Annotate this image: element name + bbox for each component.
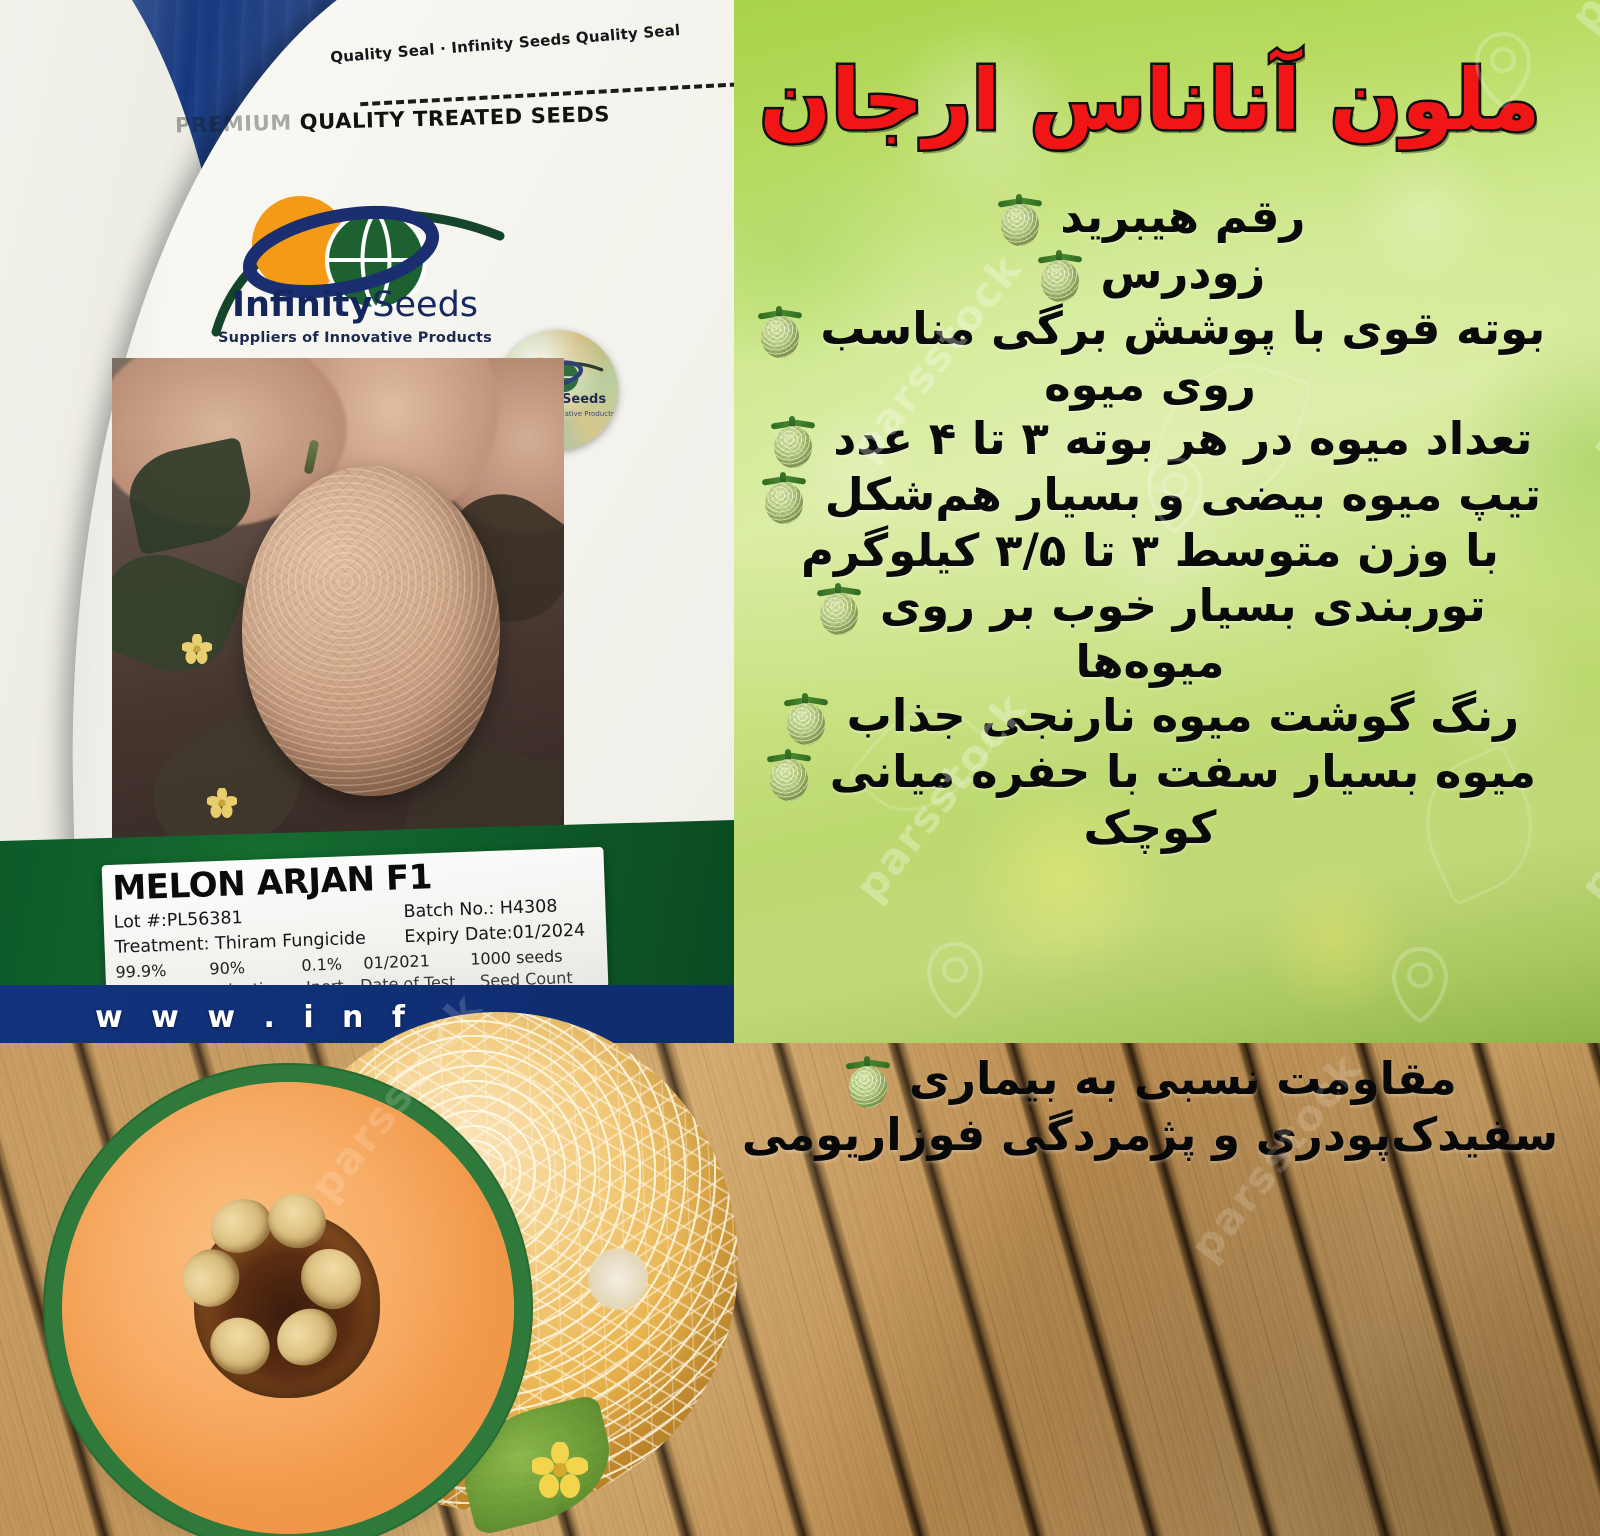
brand-tagline: Suppliers of Innovative Products <box>205 330 505 346</box>
label-germination-value: 90% <box>209 958 245 978</box>
melon-bullet-icon <box>768 747 810 801</box>
label-treatment: Treatment: Thiram Fungicide <box>114 929 366 958</box>
label-batch-number: Batch No.: H4308 <box>403 897 558 923</box>
melon-bullet-icon <box>763 470 805 524</box>
brand-infinity: Infinity <box>232 285 372 325</box>
premium-word-faded: PREMIUM <box>175 110 300 137</box>
feature-text: مقاومت نسبی به بیماری <box>909 1052 1457 1105</box>
melon-blossom-end-icon <box>588 1248 648 1310</box>
label-inert-value: 0.1% <box>301 955 342 975</box>
melon-fruit-photo <box>242 466 500 796</box>
feature-text: تعداد میوه در هر بوته ۳ تا ۴ عدد <box>833 412 1532 465</box>
melon-bullet-icon <box>1039 248 1081 302</box>
melon-bullet-icon <box>759 304 801 358</box>
feature-text: بوته قوی با پوشش برگی مناسب <box>820 302 1545 355</box>
melon-stem-icon <box>304 439 320 474</box>
label-test-date-value: 01/2021 <box>363 951 430 972</box>
feature-line: زودرس <box>726 246 1574 302</box>
brand-wordmark: InfinitySeeds <box>200 288 510 323</box>
melon-bullet-icon <box>785 691 827 745</box>
feature-line: میوه‌ها <box>726 635 1574 689</box>
feature-line: تعداد میوه در هر بوته ۳ تا ۴ عدد <box>726 412 1574 468</box>
label-expiry-date: Expiry Date:01/2024 <box>404 921 586 948</box>
label-lot-number: Lot #:PL56381 <box>113 908 243 933</box>
packet-product-photo <box>112 358 564 866</box>
feature-text: رقم هیبرید <box>1060 190 1305 243</box>
feature-text: توربندی بسیار خوب بر روی <box>880 579 1486 632</box>
seed-packet-photo: Quality Seal · Infinity Seeds Quality Se… <box>0 0 734 1043</box>
feature-line: تیپ میوه بیضی و بسیار هم‌شکل <box>726 468 1574 524</box>
feature-text: کوچک <box>1084 801 1217 854</box>
melon-bullet-icon <box>999 192 1041 246</box>
seed-info-label: MELON ARJAN F1 Lot #:PL56381 Batch No.: … <box>102 847 609 1005</box>
poster-root: Quality Seal · Infinity Seeds Quality Se… <box>0 0 1600 1536</box>
feature-line: رنگ گوشت میوه نارنجی جذاب <box>726 689 1574 745</box>
feature-text: میوه بسیار سفت با حفره میانی <box>830 745 1536 798</box>
melon-flower-icon <box>207 788 237 818</box>
feature-line: بوته قوی با پوشش برگی مناسب <box>726 302 1574 358</box>
feature-line: مقاومت نسبی به بیماری <box>726 1052 1574 1108</box>
vine-leaf-icon <box>121 437 258 556</box>
feature-text: میوه‌ها <box>1075 635 1224 688</box>
feature-line: کوچک <box>726 801 1574 855</box>
melon-bullet-icon <box>847 1054 889 1108</box>
page-title: ملون آناناس ارجان <box>740 56 1560 145</box>
halved-melon-photo <box>62 1082 514 1534</box>
melon-bullet-icon <box>772 414 814 468</box>
feature-text: رنگ گوشت میوه نارنجی جذاب <box>847 689 1519 742</box>
feature-text: زودرس <box>1100 246 1265 299</box>
melon-flower-icon <box>182 634 212 664</box>
vine-leaf-icon <box>112 538 248 689</box>
melon-vine-flower-icon <box>532 1442 588 1498</box>
feature-line: با وزن متوسط ۳ تا ۳/۵ کیلوگرم <box>726 524 1574 578</box>
feature-list: رقم هیبرید زودرس بوته قوی با پوشش برگی م… <box>726 190 1574 856</box>
brand-seeds: Seeds <box>372 285 478 325</box>
melon-netting-texture <box>242 466 500 796</box>
feature-line: روی میوه <box>726 358 1574 412</box>
melon-bullet-icon <box>818 581 860 635</box>
feature-line: سفیدک‌پودری و پژمردگی فوزاریومی <box>726 1108 1574 1162</box>
feature-text: تیپ میوه بیضی و بسیار هم‌شکل <box>825 468 1541 521</box>
feature-text: با وزن متوسط ۳ تا ۳/۵ کیلوگرم <box>801 524 1499 577</box>
feature-line: رقم هیبرید <box>726 190 1574 246</box>
label-seed-count-value: 1000 seeds <box>470 946 563 968</box>
feature-line: میوه بسیار سفت با حفره میانی <box>726 745 1574 801</box>
feature-line: توربندی بسیار خوب بر روی <box>726 579 1574 635</box>
feature-list-wood: مقاومت نسبی به بیماری سفیدک‌پودری و پژمر… <box>726 1052 1574 1162</box>
feature-text: سفیدک‌پودری و پژمردگی فوزاریومی <box>742 1108 1558 1161</box>
feature-text: روی میوه <box>1044 358 1256 411</box>
label-purity-value: 99.9% <box>115 961 166 982</box>
melon-hero-photo <box>62 1012 738 1536</box>
